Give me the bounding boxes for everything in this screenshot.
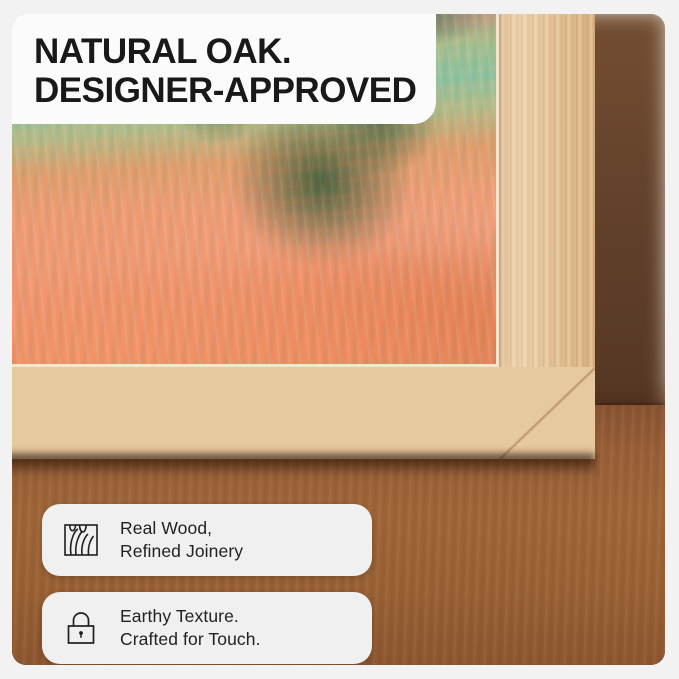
lock-icon <box>60 607 102 649</box>
wood-grain-icon <box>60 519 102 561</box>
feature-line-2: Crafted for Touch. <box>120 628 261 651</box>
feature-card-earthy-texture-text: Earthy Texture. Crafted for Touch. <box>120 605 261 651</box>
frame-cast-shadow <box>12 454 595 476</box>
product-photo: NATURAL OAK. DESIGNER-APPROVED <box>12 14 665 665</box>
headline-banner: NATURAL OAK. DESIGNER-APPROVED <box>12 14 436 124</box>
feature-card-earthy-texture: Earthy Texture. Crafted for Touch. <box>42 592 372 664</box>
feature-card-real-wood: Real Wood, Refined Joinery <box>42 504 372 576</box>
feature-line-1: Earthy Texture. <box>120 605 261 628</box>
feature-card-real-wood-text: Real Wood, Refined Joinery <box>120 517 243 563</box>
headline-line-1: NATURAL OAK. <box>34 32 416 71</box>
feature-line-2: Refined Joinery <box>120 540 243 563</box>
product-image-card: NATURAL OAK. DESIGNER-APPROVED <box>0 0 679 679</box>
feature-line-1: Real Wood, <box>120 517 243 540</box>
feature-card-list: Real Wood, Refined Joinery Earthy Textur… <box>42 504 372 664</box>
headline-line-2: DESIGNER-APPROVED <box>34 71 416 110</box>
frame-mitre-joint <box>499 367 595 459</box>
